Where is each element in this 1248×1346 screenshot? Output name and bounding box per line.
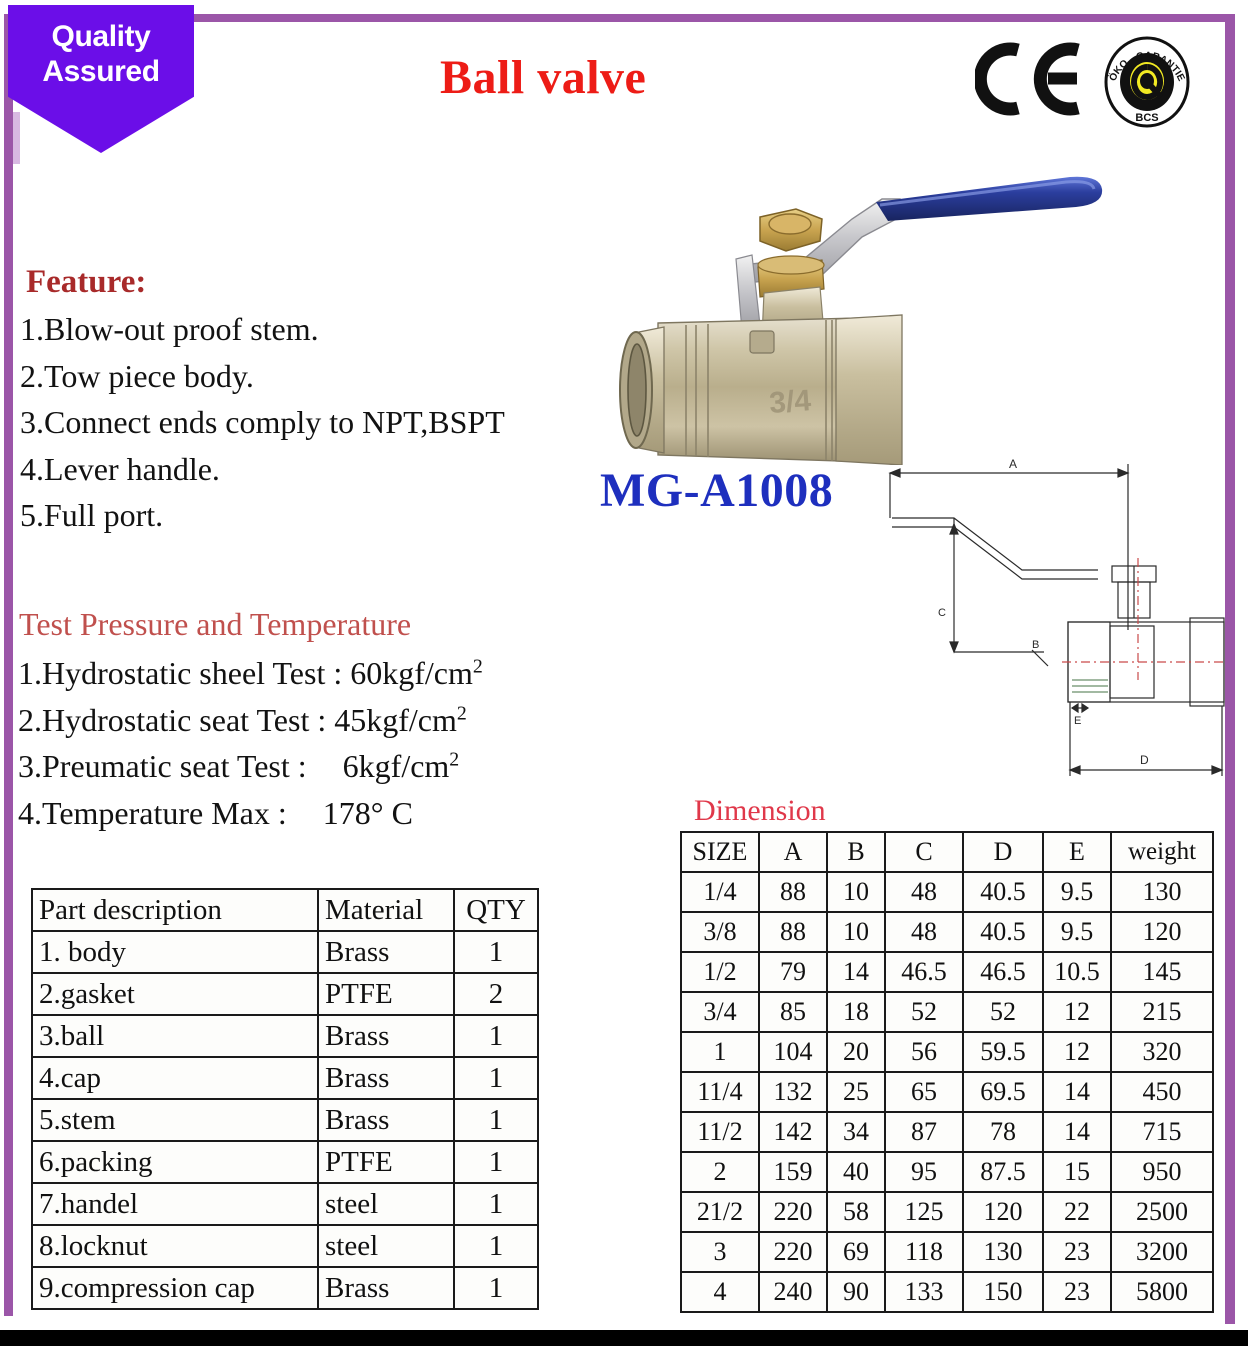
model-number: MG-A1008 — [600, 463, 833, 518]
dim-a: 85 — [759, 992, 827, 1032]
dim-a: 79 — [759, 952, 827, 992]
dim-c: 87 — [885, 1112, 963, 1152]
part-qty: 1 — [454, 1141, 538, 1183]
svg-text:C: C — [938, 607, 946, 619]
dim-weight: 5800 — [1111, 1272, 1213, 1312]
table-row: 2.gasket PTFE 2 — [32, 973, 538, 1015]
test-item: 3.Preumatic seat Test : 6kgf/cm2 — [18, 743, 638, 790]
part-material: steel — [318, 1183, 454, 1225]
table-row: 6.packing PTFE 1 — [32, 1141, 538, 1183]
dim-d: 59.5 — [963, 1032, 1043, 1072]
test-item-label: 3.Preumatic seat Test : — [18, 748, 307, 784]
dim-b: 58 — [827, 1192, 885, 1232]
dim-b: 20 — [827, 1032, 885, 1072]
table-row: 4 240 90 133 150 23 5800 — [681, 1272, 1213, 1312]
dim-weight: 120 — [1111, 912, 1213, 952]
test-pressure-list: 1.Hydrostatic sheel Test : 60kgf/cm2 2.H… — [18, 650, 638, 837]
test-item: 2.Hydrostatic seat Test : 45kgf/cm2 — [18, 697, 638, 744]
dim-size: 3/8 — [681, 912, 759, 952]
part-qty: 1 — [454, 1015, 538, 1057]
dim-a: 220 — [759, 1192, 827, 1232]
svg-text:E: E — [1074, 715, 1081, 727]
test-item-value: 178 — [323, 795, 371, 831]
dim-c: 118 — [885, 1232, 963, 1272]
dim-weight: 320 — [1111, 1032, 1213, 1072]
oko-garantie-bcs-certification-icon: ÖKO - GARANTIE BCS — [1104, 36, 1190, 128]
dim-d: 40.5 — [963, 872, 1043, 912]
dim-size: 1 — [681, 1032, 759, 1072]
table-row: 1/4 88 10 48 40.5 9.5 130 — [681, 872, 1213, 912]
svg-text:3/4: 3/4 — [768, 384, 812, 420]
test-item: 1.Hydrostatic sheel Test : 60kgf/cm2 — [18, 650, 638, 697]
test-item-value: 6kgf/cm — [343, 748, 450, 784]
dim-a: 104 — [759, 1032, 827, 1072]
part-description: 8.locknut — [32, 1225, 318, 1267]
frame-border-top — [186, 14, 1232, 22]
dim-b: 25 — [827, 1072, 885, 1112]
dim-header-b: B — [827, 832, 885, 872]
test-item-label: 4.Temperature Max : — [18, 795, 287, 831]
table-row: 8.locknut steel 1 — [32, 1225, 538, 1267]
svg-text:A: A — [1009, 457, 1017, 471]
table-row: 11/2 142 34 87 78 14 715 — [681, 1112, 1213, 1152]
part-qty: 2 — [454, 973, 538, 1015]
page-title: Ball valve — [440, 50, 646, 105]
dim-a: 142 — [759, 1112, 827, 1152]
dim-size: 3/4 — [681, 992, 759, 1032]
dim-b: 40 — [827, 1152, 885, 1192]
dim-a: 159 — [759, 1152, 827, 1192]
dim-d: 130 — [963, 1232, 1043, 1272]
dim-a: 240 — [759, 1272, 827, 1312]
part-qty: 1 — [454, 1225, 538, 1267]
dim-weight: 450 — [1111, 1072, 1213, 1112]
quality-assured-badge: Quality Assured — [8, 5, 194, 153]
test-item-value: 45kgf/cm — [334, 702, 457, 738]
product-photo-ball-valve: 3/4 — [600, 155, 1140, 465]
dim-d: 40.5 — [963, 912, 1043, 952]
dim-c: 52 — [885, 992, 963, 1032]
dim-e: 9.5 — [1043, 872, 1111, 912]
dim-d: 87.5 — [963, 1152, 1043, 1192]
frame-border-left-highlight — [13, 112, 20, 164]
dim-weight: 3200 — [1111, 1232, 1213, 1272]
part-material: Brass — [318, 1267, 454, 1309]
table-row: 1/2 79 14 46.5 46.5 10.5 145 — [681, 952, 1213, 992]
table-row: 3.ball Brass 1 — [32, 1015, 538, 1057]
part-description: 6.packing — [32, 1141, 318, 1183]
parts-header-description: Part description — [32, 889, 318, 931]
dim-e: 14 — [1043, 1112, 1111, 1152]
dim-b: 10 — [827, 872, 885, 912]
svg-text:D: D — [1140, 753, 1149, 767]
dim-size: 11/2 — [681, 1112, 759, 1152]
frame-border-left — [4, 14, 13, 1316]
dim-e: 9.5 — [1043, 912, 1111, 952]
part-description: 3.ball — [32, 1015, 318, 1057]
dim-e: 12 — [1043, 992, 1111, 1032]
test-item-value: 60kgf/cm — [350, 655, 473, 691]
dim-e: 15 — [1043, 1152, 1111, 1192]
part-description: 9.compression cap — [32, 1267, 318, 1309]
table-row: 3 220 69 118 130 23 3200 — [681, 1232, 1213, 1272]
feature-item: 2.Tow piece body. — [20, 353, 620, 400]
dim-b: 18 — [827, 992, 885, 1032]
part-qty: 1 — [454, 931, 538, 973]
table-row: 7.handel steel 1 — [32, 1183, 538, 1225]
test-item-label: 2.Hydrostatic seat Test : — [18, 702, 326, 738]
dim-size: 1/2 — [681, 952, 759, 992]
table-row: 4.cap Brass 1 — [32, 1057, 538, 1099]
table-row: 9.compression cap Brass 1 — [32, 1267, 538, 1309]
part-qty: 1 — [454, 1099, 538, 1141]
table-row: 11/4 132 25 65 69.5 14 450 — [681, 1072, 1213, 1112]
dim-c: 133 — [885, 1272, 963, 1312]
dim-d: 46.5 — [963, 952, 1043, 992]
test-pressure-heading: Test Pressure and Temperature — [19, 606, 411, 643]
dim-c: 46.5 — [885, 952, 963, 992]
part-description: 2.gasket — [32, 973, 318, 1015]
part-material: Brass — [318, 931, 454, 973]
table-row: 2 159 40 95 87.5 15 950 — [681, 1152, 1213, 1192]
dim-header-weight: weight — [1111, 832, 1213, 872]
dim-size: 4 — [681, 1272, 759, 1312]
test-item: 4.Temperature Max : 178° C — [18, 790, 638, 837]
part-material: PTFE — [318, 973, 454, 1015]
table-row: 3/8 88 10 48 40.5 9.5 120 — [681, 912, 1213, 952]
dim-header-e: E — [1043, 832, 1111, 872]
dim-d: 69.5 — [963, 1072, 1043, 1112]
dim-weight: 950 — [1111, 1152, 1213, 1192]
frame-bottom-bar — [0, 1330, 1248, 1346]
dim-weight: 130 — [1111, 872, 1213, 912]
dim-weight: 145 — [1111, 952, 1213, 992]
part-material: Brass — [318, 1099, 454, 1141]
dim-size: 11/4 — [681, 1072, 759, 1112]
dim-weight: 215 — [1111, 992, 1213, 1032]
product-spec-sheet: Quality Assured Ball valve ÖKO - GARANTI… — [0, 0, 1248, 1346]
badge-line-2: Assured — [8, 54, 194, 89]
part-material: Brass — [318, 1015, 454, 1057]
dim-e: 14 — [1043, 1072, 1111, 1112]
feature-item: 4.Lever handle. — [20, 446, 620, 493]
dim-a: 88 — [759, 912, 827, 952]
test-item-suffix: ° C — [371, 795, 413, 831]
part-qty: 1 — [454, 1267, 538, 1309]
dim-c: 48 — [885, 872, 963, 912]
dim-e: 12 — [1043, 1032, 1111, 1072]
dim-size: 2 — [681, 1152, 759, 1192]
dim-e: 22 — [1043, 1192, 1111, 1232]
dim-b: 69 — [827, 1232, 885, 1272]
dim-e: 23 — [1043, 1272, 1111, 1312]
dim-c: 125 — [885, 1192, 963, 1232]
parts-header-material: Material — [318, 889, 454, 931]
dim-d: 150 — [963, 1272, 1043, 1312]
dim-a: 88 — [759, 872, 827, 912]
feature-item: 3.Connect ends comply to NPT,BSPT — [20, 399, 620, 446]
dim-size: 21/2 — [681, 1192, 759, 1232]
part-qty: 1 — [454, 1057, 538, 1099]
dim-size: 3 — [681, 1232, 759, 1272]
part-material: Brass — [318, 1057, 454, 1099]
test-item-sup: 2 — [449, 749, 459, 771]
dimension-table-caption: Dimension — [694, 794, 826, 828]
svg-text:BCS: BCS — [1135, 112, 1158, 124]
part-description: 5.stem — [32, 1099, 318, 1141]
dim-c: 65 — [885, 1072, 963, 1112]
frame-border-right — [1225, 14, 1235, 1324]
table-row: 1 104 20 56 59.5 12 320 — [681, 1032, 1213, 1072]
technical-drawing-dimensioned: A C — [872, 440, 1228, 800]
dim-weight: 2500 — [1111, 1192, 1213, 1232]
part-qty: 1 — [454, 1183, 538, 1225]
dim-c: 48 — [885, 912, 963, 952]
dim-b: 14 — [827, 952, 885, 992]
svg-text:B: B — [1032, 639, 1039, 651]
test-item-sup: 2 — [473, 655, 483, 677]
part-description: 1. body — [32, 931, 318, 973]
feature-item: 5.Full port. — [20, 492, 620, 539]
table-row: 3/4 85 18 52 52 12 215 — [681, 992, 1213, 1032]
dim-c: 56 — [885, 1032, 963, 1072]
dim-d: 52 — [963, 992, 1043, 1032]
dim-b: 10 — [827, 912, 885, 952]
test-item-sup: 2 — [457, 702, 467, 724]
table-row: 21/2 220 58 125 120 22 2500 — [681, 1192, 1213, 1232]
part-material: steel — [318, 1225, 454, 1267]
table-header-row: Part description Material QTY — [32, 889, 538, 931]
badge-line-1: Quality — [8, 19, 194, 54]
part-description: 4.cap — [32, 1057, 318, 1099]
dim-d: 78 — [963, 1112, 1043, 1152]
feature-item: 1.Blow-out proof stem. — [20, 306, 620, 353]
dim-e: 10.5 — [1043, 952, 1111, 992]
dim-header-c: C — [885, 832, 963, 872]
dim-d: 120 — [963, 1192, 1043, 1232]
dimension-table: SIZE A B C D E weight 1/4 88 10 48 40.5 … — [680, 831, 1214, 1313]
dim-weight: 715 — [1111, 1112, 1213, 1152]
dim-size: 1/4 — [681, 872, 759, 912]
dim-header-a: A — [759, 832, 827, 872]
feature-heading: Feature: — [26, 264, 146, 301]
dim-header-size: SIZE — [681, 832, 759, 872]
test-item-label: 1.Hydrostatic sheel Test : — [18, 655, 342, 691]
table-header-row: SIZE A B C D E weight — [681, 832, 1213, 872]
dim-b: 34 — [827, 1112, 885, 1152]
dim-header-d: D — [963, 832, 1043, 872]
table-row: 5.stem Brass 1 — [32, 1099, 538, 1141]
dim-e: 23 — [1043, 1232, 1111, 1272]
dim-b: 90 — [827, 1272, 885, 1312]
dim-c: 95 — [885, 1152, 963, 1192]
table-row: 1. body Brass 1 — [32, 931, 538, 973]
parts-header-qty: QTY — [454, 889, 538, 931]
feature-list: 1.Blow-out proof stem. 2.Tow piece body.… — [20, 306, 620, 539]
parts-table: Part description Material QTY 1. body Br… — [31, 888, 539, 1310]
dim-a: 220 — [759, 1232, 827, 1272]
ce-mark-icon — [975, 40, 1085, 118]
part-description: 7.handel — [32, 1183, 318, 1225]
part-material: PTFE — [318, 1141, 454, 1183]
dim-a: 132 — [759, 1072, 827, 1112]
